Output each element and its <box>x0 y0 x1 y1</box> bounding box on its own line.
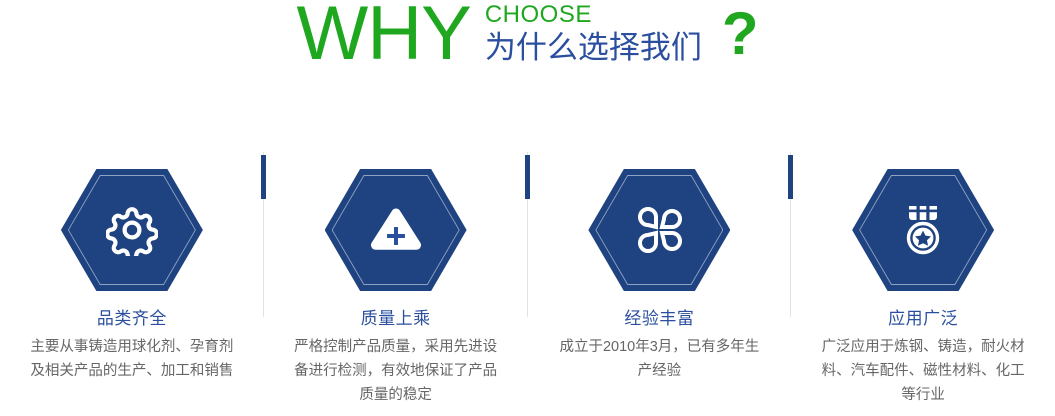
heading-question-mark: ? <box>722 4 759 64</box>
feature-description: 严格控制产品质量，采用先进设备进行检测，有效地保证了产品质量的稳定 <box>290 335 502 407</box>
heading-choose: CHOOSE <box>485 2 702 28</box>
feature-title: 质量上乘 <box>361 308 431 330</box>
feature-title: 经验丰富 <box>624 308 694 330</box>
feature-description: 广泛应用于炼钢、铸造，耐火材料、汽车配件、磁性材料、化工等行业 <box>817 335 1029 407</box>
column-divider <box>263 152 264 317</box>
gear-icon <box>61 169 203 291</box>
feature-title: 品类齐全 <box>97 308 167 330</box>
feature-column-4: 应用广泛 广泛应用于炼钢、铸造，耐火材料、汽车配件、磁性材料、化工等行业 <box>791 150 1055 416</box>
hexagon-badge-2 <box>325 169 467 291</box>
hexagon-badge-3 <box>588 169 730 291</box>
feature-columns: 品类齐全 主要从事铸造用球化剂、孕育剂及相关产品的生产、加工和销售 质量上乘 严… <box>0 150 1055 416</box>
section-heading: WHY CHOOSE 为什么选择我们 ? <box>0 0 1055 100</box>
triangle-plus-icon <box>325 169 467 291</box>
feature-column-1: 品类齐全 主要从事铸造用球化剂、孕育剂及相关产品的生产、加工和销售 <box>0 150 264 416</box>
heading-chinese-title: 为什么选择我们 <box>485 30 702 66</box>
heading-stacked-text: CHOOSE 为什么选择我们 <box>485 2 702 66</box>
feature-description: 成立于2010年3月，已有多年生产经验 <box>553 335 765 383</box>
four-petal-clover-icon <box>588 169 730 291</box>
medal-star-icon <box>852 169 994 291</box>
column-divider <box>527 152 528 317</box>
hexagon-badge-4 <box>852 169 994 291</box>
feature-title: 应用广泛 <box>888 308 958 330</box>
column-divider <box>790 152 791 317</box>
feature-description: 主要从事铸造用球化剂、孕育剂及相关产品的生产、加工和销售 <box>26 335 238 383</box>
heading-why: WHY <box>297 0 471 70</box>
hexagon-badge-1 <box>61 169 203 291</box>
heading-inner: WHY CHOOSE 为什么选择我们 ? <box>297 0 759 70</box>
feature-column-2: 质量上乘 严格控制产品质量，采用先进设备进行检测，有效地保证了产品质量的稳定 <box>264 150 528 416</box>
feature-column-3: 经验丰富 成立于2010年3月，已有多年生产经验 <box>528 150 792 416</box>
